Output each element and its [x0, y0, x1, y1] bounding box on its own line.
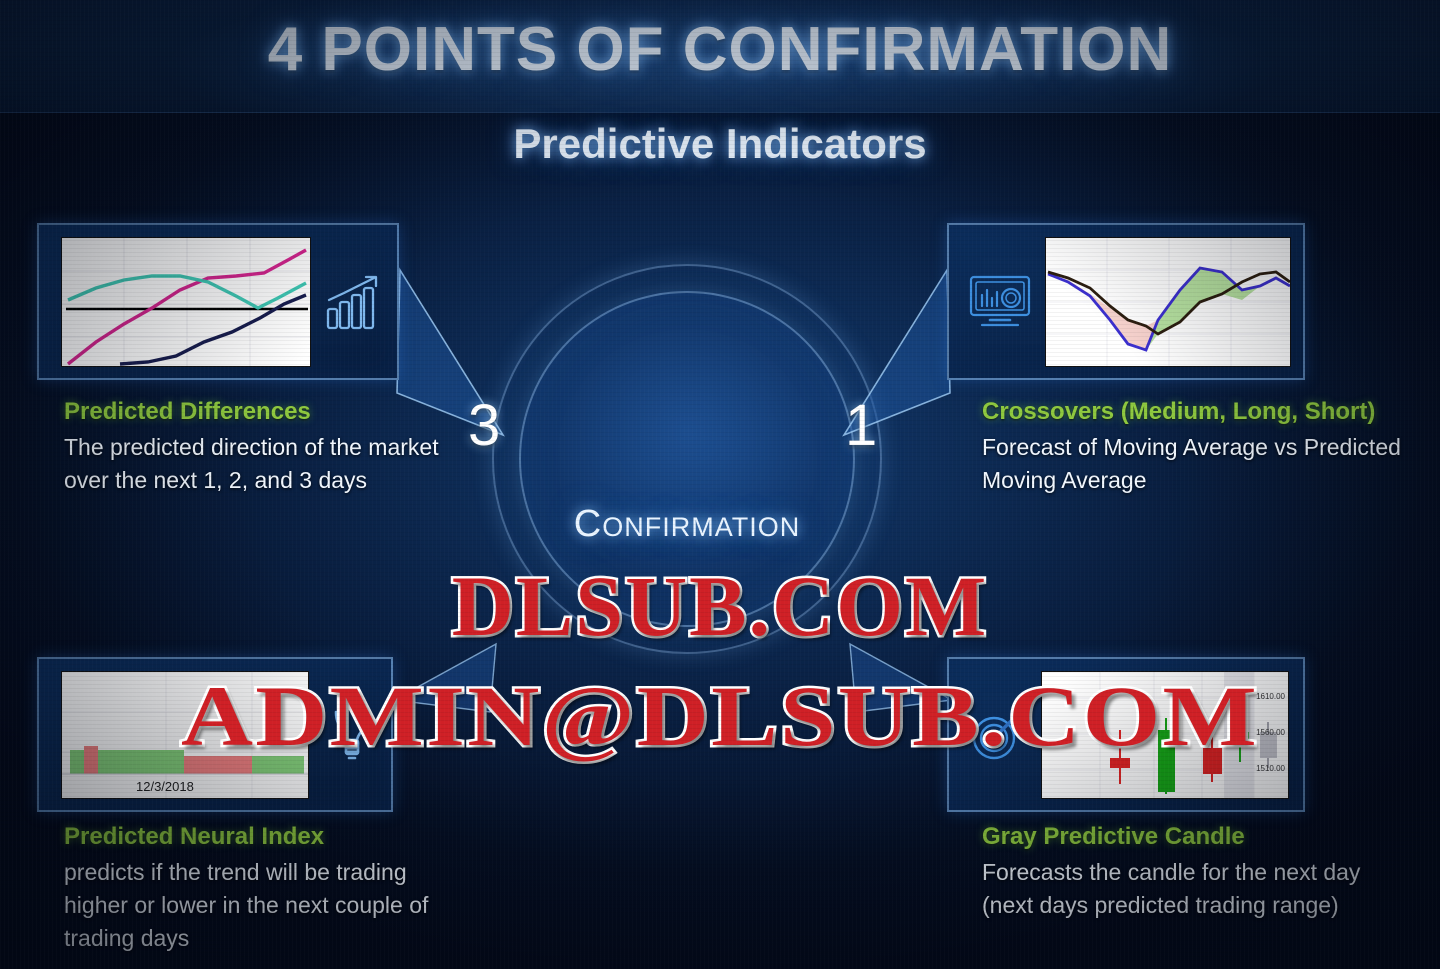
caption-gray-predictive-candle: Gray Predictive Candle Forecasts the can…	[982, 823, 1402, 922]
caption-body: Forecasts the candle for the next day (n…	[982, 856, 1402, 922]
page-subtitle: Predictive Indicators	[0, 120, 1440, 168]
marker-number-1: 1	[845, 392, 877, 459]
caption-predicted-differences: Predicted Differences The predicted dire…	[64, 398, 464, 497]
watermark-email: ADMIN@DLSUB.COM	[0, 666, 1440, 766]
crossovers-thumbnail	[1045, 237, 1291, 367]
panel-predicted-differences[interactable]	[37, 223, 399, 380]
caption-title: Crossovers (Medium, Long, Short)	[982, 398, 1440, 426]
confirmation-label: Confirmation	[492, 503, 882, 546]
caption-title: Predicted Differences	[64, 398, 464, 426]
caption-predicted-neural-index: Predicted Neural Index predicts if the t…	[64, 823, 464, 955]
slide-canvas: 4 POINTS OF CONFIRMATION Predictive Indi…	[0, 0, 1440, 969]
caption-body: predicts if the trend will be trading hi…	[64, 856, 464, 955]
predicted-differences-thumbnail	[61, 237, 311, 367]
page-title: 4 POINTS OF CONFIRMATION	[0, 14, 1440, 85]
caption-title: Predicted Neural Index	[64, 823, 464, 851]
bar-chart-growth-icon	[315, 242, 395, 362]
caption-body: Forecast of Moving Average vs Predicted …	[982, 431, 1440, 497]
monitor-analytics-icon	[957, 242, 1043, 362]
caption-title: Gray Predictive Candle	[982, 823, 1402, 851]
caption-body: The predicted direction of the market ov…	[64, 431, 464, 497]
watermark-site: DLSUB.COM	[0, 556, 1440, 656]
marker-number-3: 3	[468, 392, 500, 459]
neural-index-date-label: 12/3/2018	[136, 779, 194, 794]
panel-crossovers[interactable]	[947, 223, 1305, 380]
caption-crossovers: Crossovers (Medium, Long, Short) Forecas…	[982, 398, 1440, 497]
